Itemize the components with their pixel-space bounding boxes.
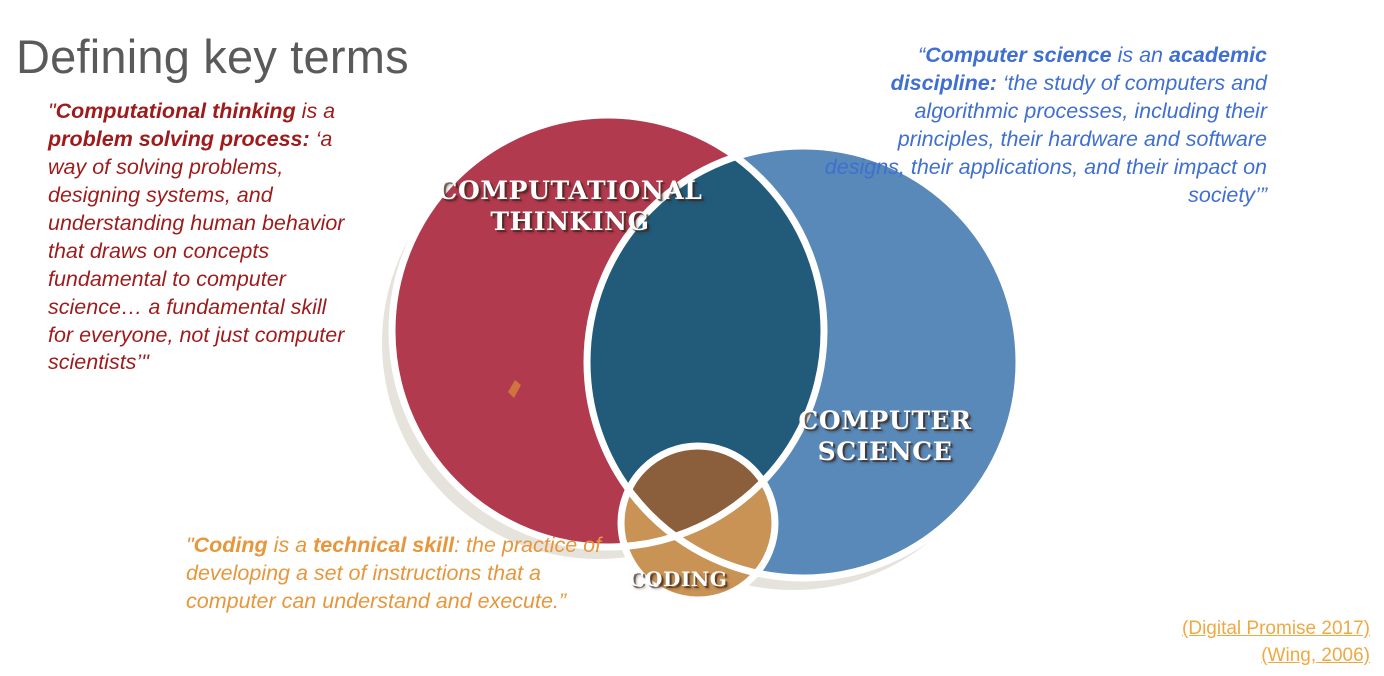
citation-link-wing[interactable]: (Wing, 2006) — [1182, 643, 1370, 670]
quote-cs-mid: is an — [1112, 43, 1169, 67]
quote-coding: "Coding is a technical skill: the practi… — [186, 532, 606, 616]
quote-ct-open: " — [48, 99, 56, 123]
quote-cs-term: Computer science — [925, 43, 1111, 67]
quote-ct-phrase: problem solving process: — [48, 127, 310, 151]
quote-coding-mid: is a — [268, 533, 313, 557]
citation-link-digital-promise[interactable]: (Digital Promise 2017) — [1182, 616, 1370, 643]
quote-ct-body: ‘a way of solving problems, designing sy… — [48, 127, 344, 375]
citations: (Digital Promise 2017) (Wing, 2006) — [1182, 616, 1370, 670]
quote-ct-term: Computational thinking — [56, 99, 296, 123]
quote-ct-mid: is a — [296, 99, 335, 123]
quote-computer-science: “Computer science is an academic discipl… — [812, 42, 1267, 210]
quote-coding-term: Coding — [194, 533, 268, 557]
quote-computational-thinking: "Computational thinking is a problem sol… — [48, 98, 348, 377]
quote-coding-open: " — [186, 533, 194, 557]
quote-coding-phrase: technical skill — [313, 533, 454, 557]
slide-canvas: Defining key terms — [0, 0, 1384, 676]
